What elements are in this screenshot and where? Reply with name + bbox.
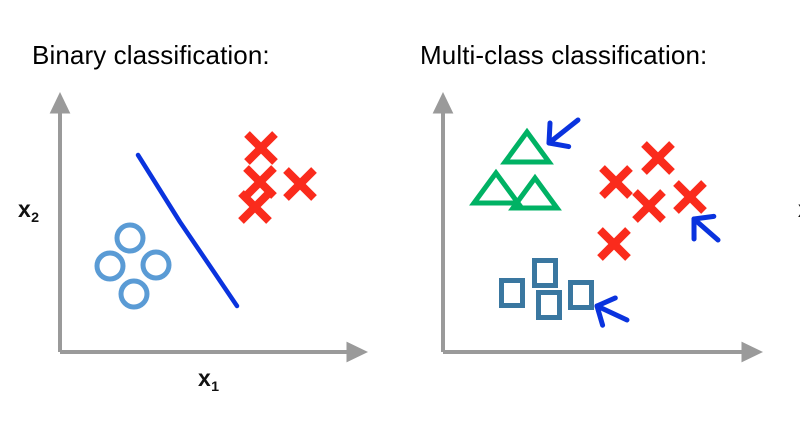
panel-binary-classification: Binary classification: x2 x1 (0, 0, 400, 431)
panel-multiclass-classification: Multi-class classification: x2 x1 (400, 0, 800, 431)
binary-x-axis-label: x1 (198, 365, 219, 392)
binary-y-axis-label: x2 (18, 196, 39, 223)
binary-y-axis-label-subscript: 2 (31, 210, 39, 226)
classification-diagram: Binary classification: x2 x1 Multi-class… (0, 0, 800, 431)
binary-y-axis-label-base: x (18, 196, 31, 222)
panel-multiclass-title: Multi-class classification: (420, 40, 707, 71)
panel-binary-title: Binary classification: (32, 40, 270, 71)
binary-x-axis-label-base: x (198, 365, 211, 391)
binary-x-axis-label-subscript: 1 (211, 379, 219, 395)
